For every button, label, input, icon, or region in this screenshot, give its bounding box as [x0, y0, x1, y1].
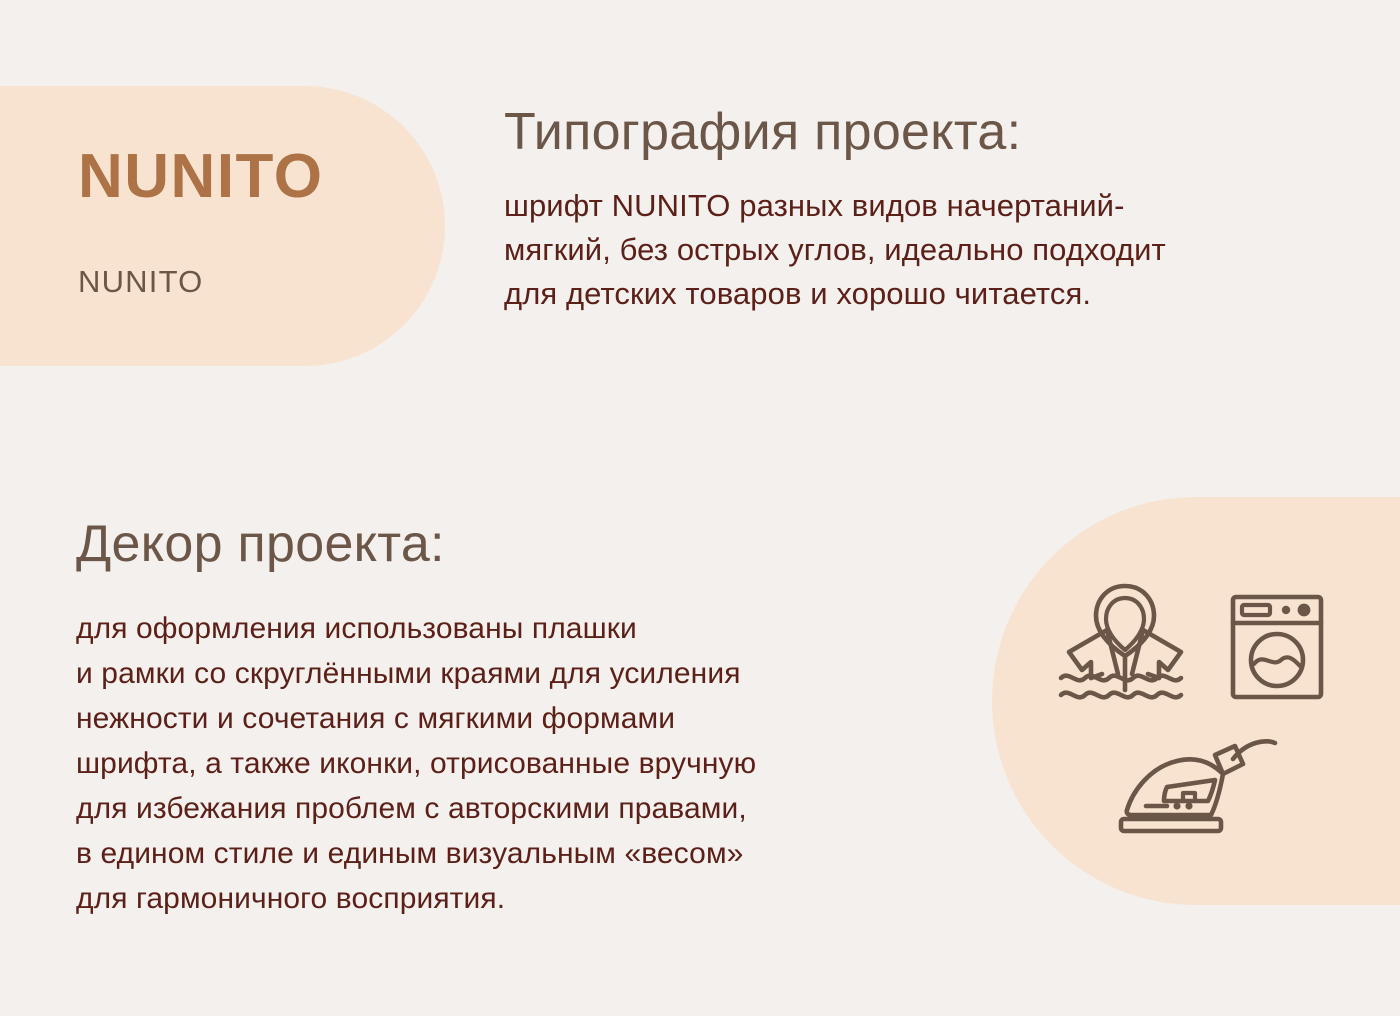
decor-heading: Декор проекта:: [76, 516, 976, 572]
font-badge-panel: NUNITO NUNITO: [0, 86, 445, 366]
font-name-small: NUNITO: [78, 266, 408, 297]
iron-icon: [1115, 733, 1285, 843]
decor-text-block: Декор проекта: для оформления использова…: [76, 516, 976, 921]
font-badge-content: NUNITO NUNITO: [78, 146, 408, 297]
slide-root: NUNITO NUNITO Типография проекта: шрифт …: [0, 0, 1400, 1016]
decor-body-line: для оформления использованы плашки: [76, 606, 976, 651]
decor-body-line: шрифта, а также иконки, отрисованные вру…: [76, 741, 976, 786]
decor-body-line: для избежания проблем с авторскими права…: [76, 786, 976, 831]
typography-text-block: Типография проекта: шрифт NUNITO разных …: [504, 104, 1350, 316]
decor-icon-panel: [992, 497, 1400, 905]
typography-body-line: для детских товаров и хорошо читается.: [504, 272, 1350, 316]
decor-body-line: нежности и сочетания с мягкими формами: [76, 696, 976, 741]
typography-body: шрифт NUNITO разных видов начертаний- мя…: [504, 184, 1350, 316]
raincoat-waves-icon: [1055, 578, 1195, 708]
typography-body-line: мягкий, без острых углов, идеально подхо…: [504, 228, 1350, 272]
washing-machine-icon: [1228, 592, 1326, 702]
font-name-large: NUNITO: [78, 146, 408, 208]
decor-body-line: и рамки со скруглёнными краями для усиле…: [76, 651, 976, 696]
decor-body-line: для гармоничного восприятия.: [76, 876, 976, 921]
typography-heading: Типография проекта:: [504, 104, 1350, 160]
decor-body: для оформления использованы плашки и рам…: [76, 606, 976, 921]
typography-body-line: шрифт NUNITO разных видов начертаний-: [504, 184, 1350, 228]
decor-body-line: в едином стиле и единым визуальным «весо…: [76, 831, 976, 876]
